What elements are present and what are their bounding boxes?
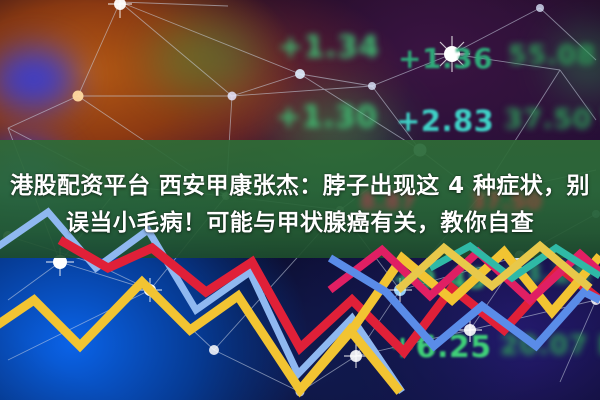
vignette-overlay [0,0,600,400]
banner-image: +1.34 55.08 W +1.30 37.50 W +1.36 +2.83 … [0,0,600,400]
